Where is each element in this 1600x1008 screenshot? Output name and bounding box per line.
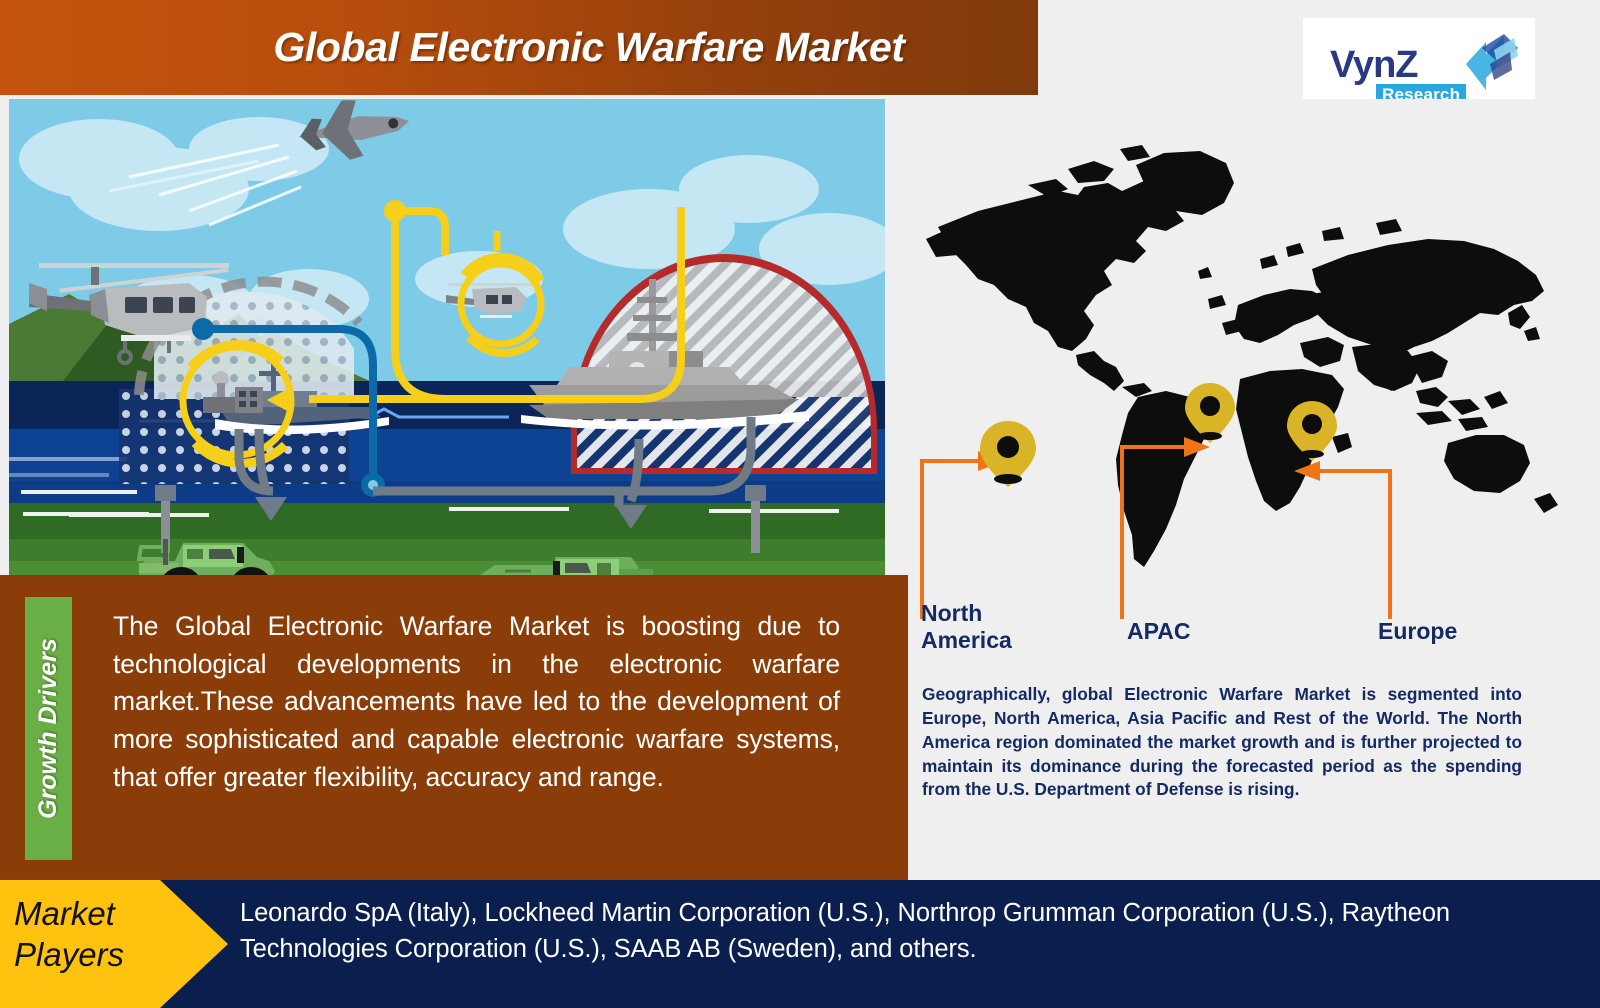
infographic-root: Global Electronic Warfare Market VynZ Re… <box>0 0 1600 1008</box>
geography-body: Geographically, global Electronic Warfar… <box>922 683 1522 802</box>
page-title: Global Electronic Warfare Market <box>0 0 1038 95</box>
growth-drivers-body: The Global Electronic Warfare Market is … <box>113 608 840 796</box>
region-label-apac: APAC <box>1127 618 1190 645</box>
node-dot <box>192 318 214 340</box>
illustration-panel <box>9 99 885 575</box>
region-label-europe: Europe <box>1378 618 1457 645</box>
world-map <box>908 99 1600 619</box>
market-players-body: Leonardo SpA (Italy), Lockheed Martin Co… <box>240 895 1570 967</box>
logo-name: VynZ <box>1330 46 1418 84</box>
electronic-warfare-illustration <box>9 99 885 575</box>
connector-line-north-america <box>922 461 980 619</box>
logo-arrow-icon <box>1460 34 1518 96</box>
map-pin-north-america <box>980 421 1036 487</box>
market-players-label: Market Players <box>14 893 164 976</box>
region-label-north-america: North America <box>921 600 1041 654</box>
connector-line-europe <box>1318 471 1390 619</box>
world-map-landmass <box>926 145 1558 567</box>
node-dot <box>384 200 406 222</box>
growth-drivers-label: Growth Drivers <box>25 597 72 860</box>
